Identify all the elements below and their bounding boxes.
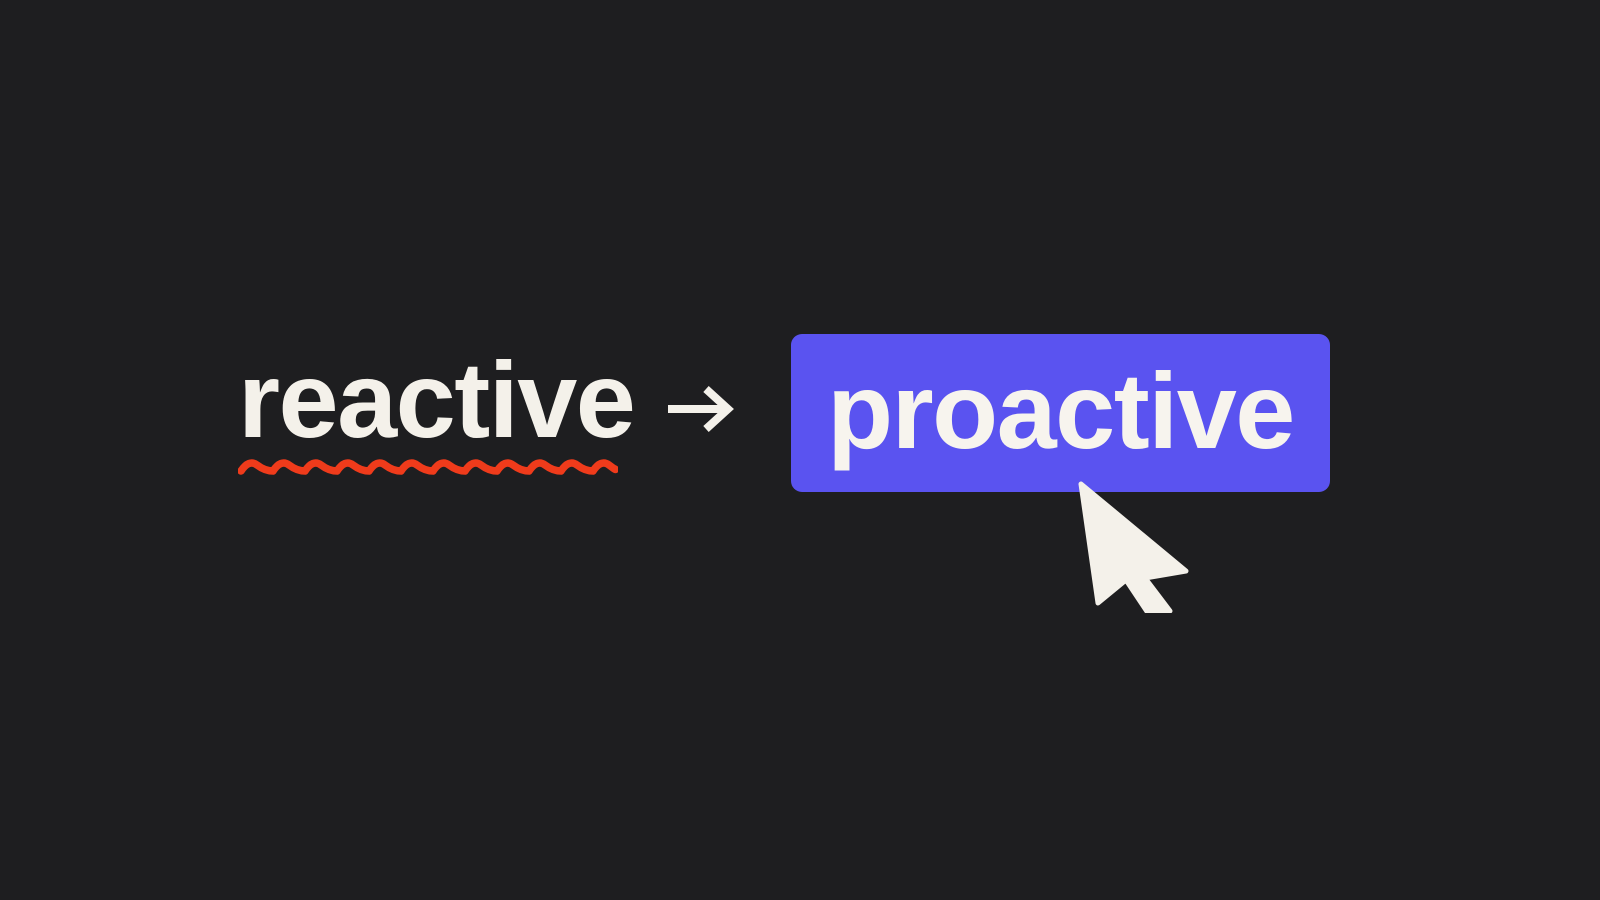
proactive-button[interactable]: proactive xyxy=(791,334,1330,492)
slide-canvas: reactive proactive xyxy=(0,0,1600,900)
spellcheck-squiggly-underline-icon xyxy=(238,454,618,480)
proactive-button-label: proactive xyxy=(827,357,1294,465)
reactive-text: reactive xyxy=(238,350,634,450)
arrow-right-icon xyxy=(664,382,736,436)
reactive-word-group: reactive xyxy=(238,350,628,485)
